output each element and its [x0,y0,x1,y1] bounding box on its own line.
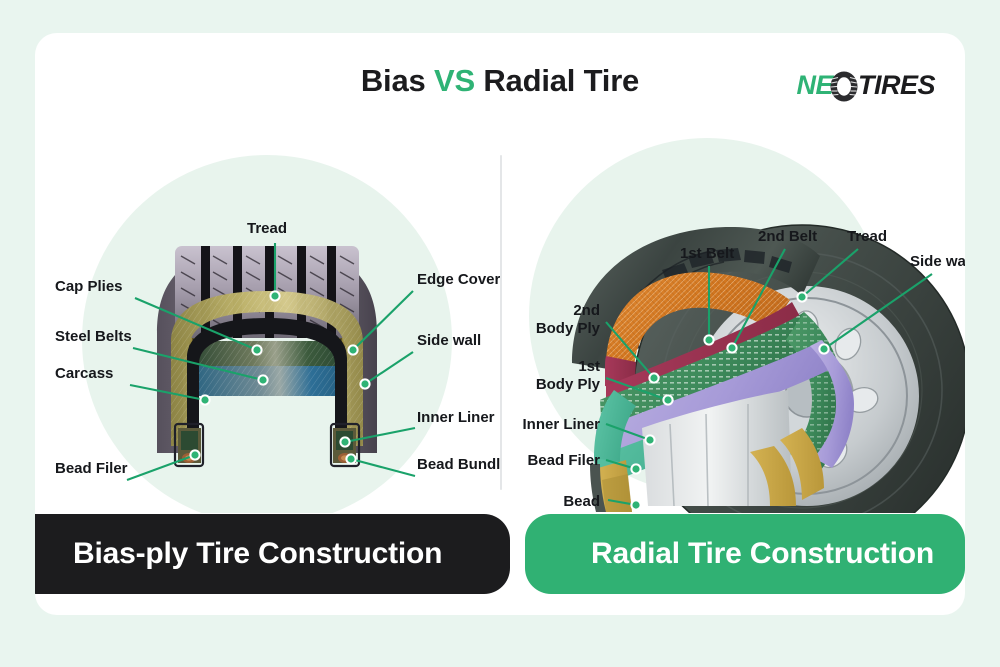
title-vs: VS [434,63,475,98]
brand-logo[interactable]: NE TIRES [796,64,935,106]
label-2nd-body-ply-line2: Body Ply [536,320,601,337]
bias-ply-banner: Bias-ply Tire Construction [35,514,510,594]
radial-panel: 1st Belt 2nd Belt Tread Side wall 2nd Bo… [502,128,965,513]
label-bead-bundle: Bead Bundle [417,456,500,473]
label-side-wall: Side wall [417,332,481,349]
label-inner-liner: Inner Liner [522,416,600,433]
label-tread: Tread [847,228,887,245]
title-part-1: Bias [361,63,434,98]
infographic-card: Bias VS Radial Tire NE [35,33,965,615]
label-1st-body-ply-line2: Body Ply [536,376,601,393]
radial-diagram: 1st Belt 2nd Belt Tread Side wall 2nd Bo… [502,128,965,513]
label-2nd-body-ply-line1: 2nd [573,302,600,319]
label-1st-body-ply-line1: 1st [578,358,600,375]
logo-text-tires: TIRES [858,72,935,99]
radial-banner-label: Radial Tire Construction [591,537,934,571]
label-bead-filer: Bead Filer [55,460,128,477]
label-steel-belts: Steel Belts [55,328,132,345]
label-edge-cover: Edge Cover [417,271,500,288]
label-tread: Tread [247,220,287,237]
label-bead-filer: Bead Filer [527,452,600,469]
label-carcass: Carcass [55,365,113,382]
header: Bias VS Radial Tire NE [35,33,965,128]
label-2nd-belt: 2nd Belt [758,228,817,245]
tire-cutaway-layers [572,227,854,512]
label-inner-liner: Inner Liner [417,409,495,426]
bias-ply-banner-label: Bias-ply Tire Construction [73,537,442,571]
bias-ply-panel: Tread Cap Plies Steel Belts Carcass Bead… [35,128,500,513]
tire-o-icon [829,71,859,102]
label-bead: Bead [563,493,600,510]
label-cap-plies: Cap Plies [55,278,123,295]
logo-text-neo: NE [796,72,833,99]
label-1st-belt: 1st Belt [680,245,734,262]
title-part-2: Radial Tire [475,63,639,98]
label-side-wall: Side wall [910,253,965,270]
radial-banner: Radial Tire Construction [525,514,965,594]
bias-ply-diagram: Tread Cap Plies Steel Belts Carcass Bead… [35,128,500,513]
